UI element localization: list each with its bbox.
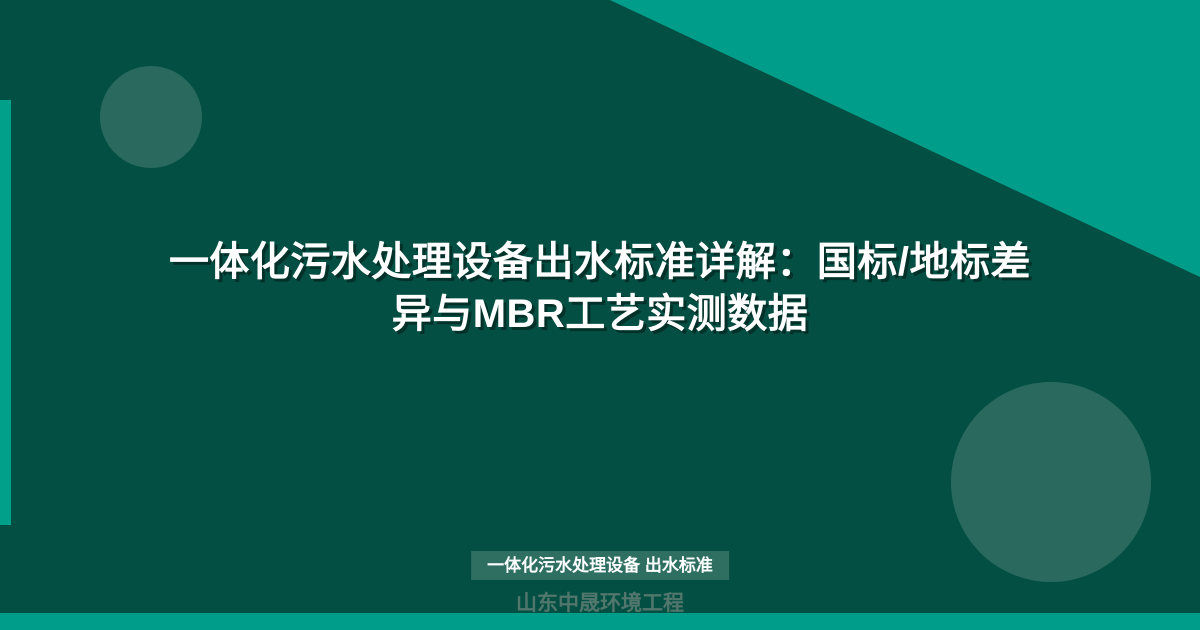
page-title: 一体化污水处理设备出水标准详解：国标/地标差 异与MBR工艺实测数据	[0, 236, 1200, 340]
poster-banner: 一体化污水处理设备出水标准详解：国标/地标差 异与MBR工艺实测数据 一体化污水…	[0, 0, 1200, 630]
circle-decoration-bottom-right	[951, 382, 1151, 582]
circle-decoration-top-left	[100, 66, 202, 168]
brand-name: 山东中晟环境工程	[0, 591, 1200, 617]
title-line-2: 异与MBR工艺实测数据	[80, 288, 1120, 340]
title-line-1: 一体化污水处理设备出水标准详解：国标/地标差	[80, 236, 1120, 288]
tagline-badge: 一体化污水处理设备 出水标准	[471, 551, 729, 580]
